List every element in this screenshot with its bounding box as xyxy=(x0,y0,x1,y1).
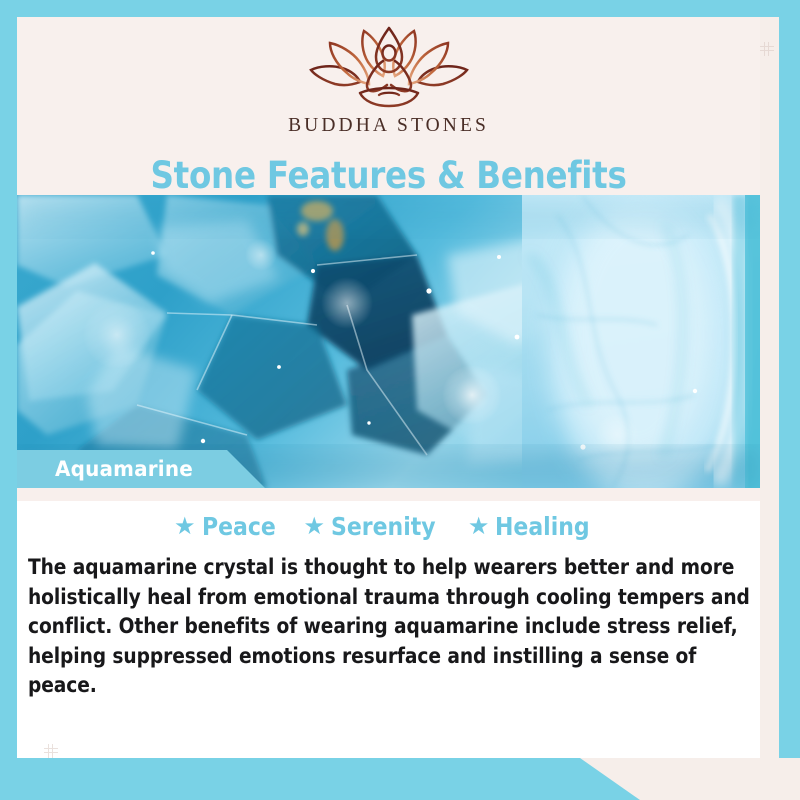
feature-item-serenity: ★ Serenity xyxy=(303,514,449,540)
star-icon: ★ xyxy=(468,515,490,539)
photo-underline-strip xyxy=(17,488,760,501)
page-title-text: Stone Features & Benefits xyxy=(150,157,626,194)
frame-band-bottom-accent xyxy=(0,758,640,800)
registration-mark-top-right xyxy=(760,42,774,56)
frame-band-top xyxy=(0,0,800,17)
feature-label: Healing xyxy=(495,514,590,540)
star-icon: ★ xyxy=(174,515,196,539)
registration-mark-bottom-left xyxy=(44,744,58,758)
stone-name-banner: Aquamarine xyxy=(17,450,265,488)
feature-label: Serenity xyxy=(331,514,436,540)
feature-label: Peace xyxy=(202,514,276,540)
aquamarine-crystal-photo: Aquamarine xyxy=(17,195,760,488)
page-title: Stone Features & Benefits xyxy=(17,157,760,194)
frame-band-right xyxy=(779,0,800,800)
brand-name: BUDDHA STONES xyxy=(17,115,760,137)
stone-description: The aquamarine crystal is thought to hel… xyxy=(28,553,750,701)
frame-band-bottom xyxy=(0,758,800,800)
lotus-meditation-figure-icon xyxy=(304,25,474,113)
crystal-texture xyxy=(17,195,760,488)
features-row: ★ Peace ★ Serenity ★ Healing xyxy=(17,514,760,540)
poster-canvas: BUDDHA STONES Stone Features & Benefits xyxy=(0,0,800,800)
feature-item-peace: ★ Peace xyxy=(174,514,285,540)
brand-logo-block: BUDDHA STONES xyxy=(17,25,760,137)
star-icon: ★ xyxy=(303,515,325,539)
feature-item-healing: ★ Healing xyxy=(468,514,603,540)
header-section: BUDDHA STONES Stone Features & Benefits xyxy=(17,17,760,195)
frame-band-left xyxy=(0,0,17,800)
content-card: BUDDHA STONES Stone Features & Benefits xyxy=(17,17,760,758)
stone-name-text: Aquamarine xyxy=(55,457,193,481)
